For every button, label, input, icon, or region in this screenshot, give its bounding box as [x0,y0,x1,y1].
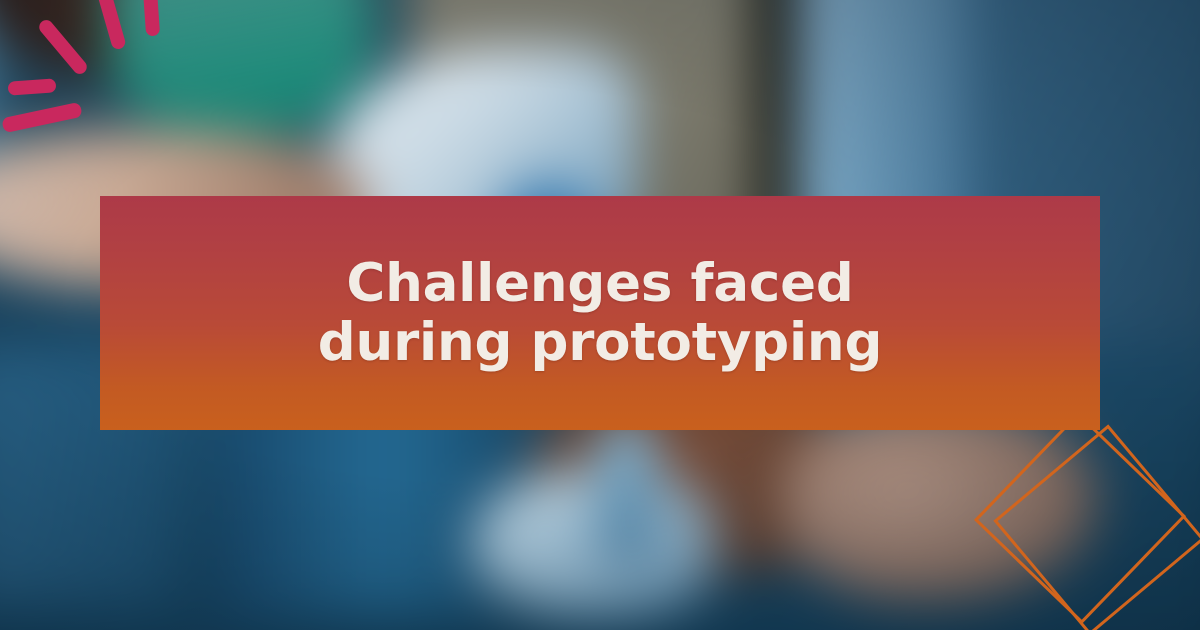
poster-canvas: Challenges faced during prototyping [0,0,1200,630]
title-banner: Challenges faced during prototyping [100,196,1100,430]
page-title: Challenges faced during prototyping [290,254,910,373]
